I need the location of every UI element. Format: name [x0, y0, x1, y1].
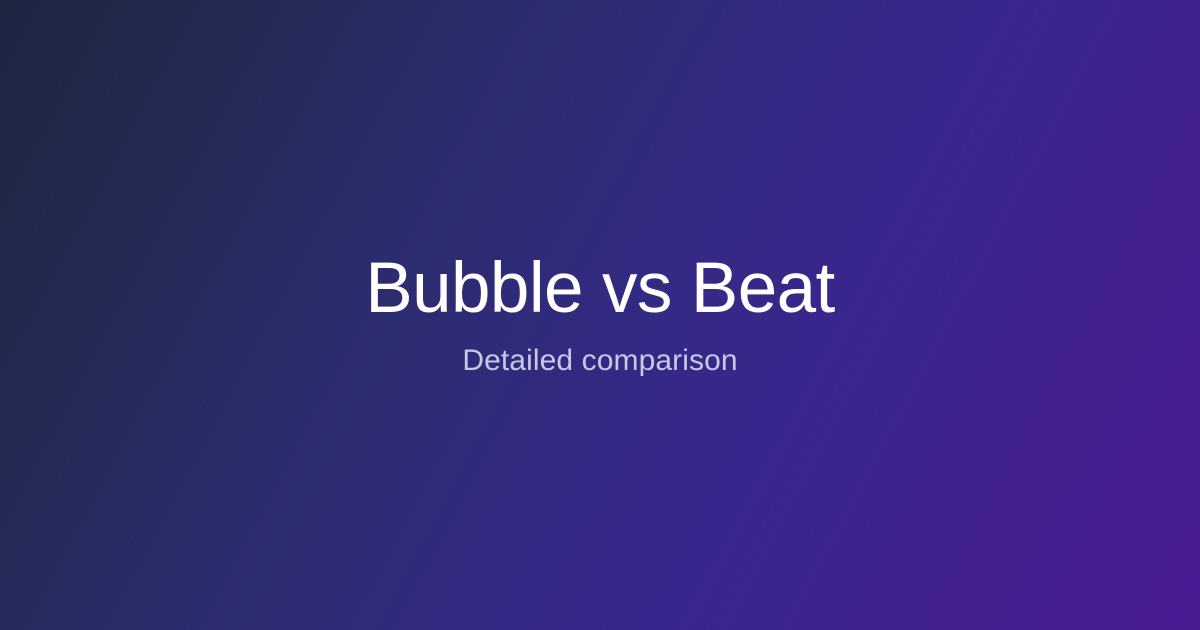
- page-subtitle: Detailed comparison: [462, 343, 737, 379]
- card-content: Bubble vs Beat Detailed comparison: [0, 0, 1200, 630]
- og-card: Bubble vs Beat Detailed comparison: [0, 0, 1200, 630]
- page-title: Bubble vs Beat: [365, 251, 834, 326]
